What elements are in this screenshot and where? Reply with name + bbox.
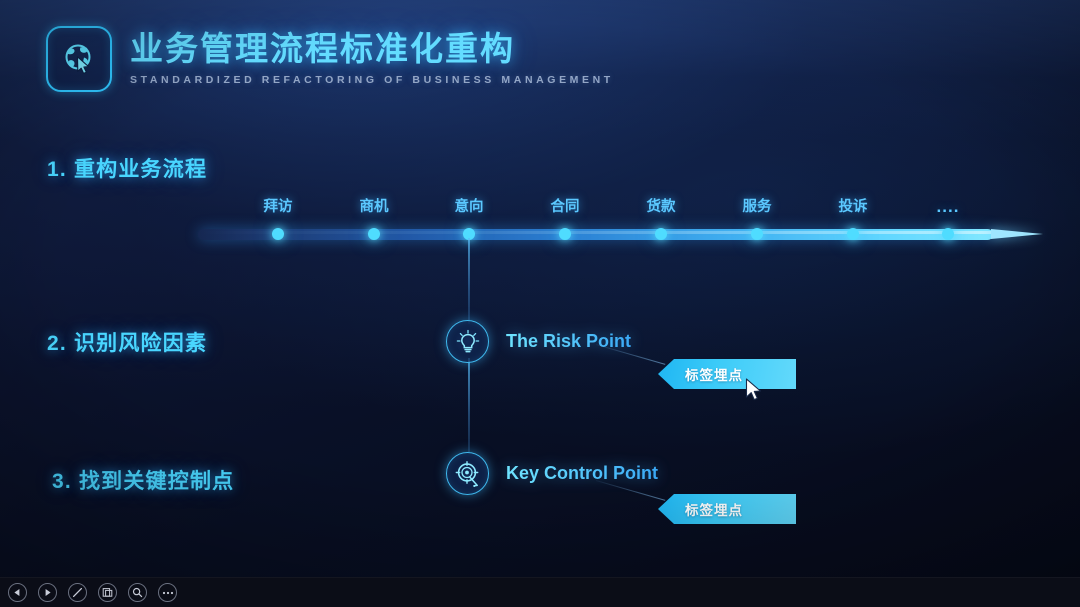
- timeline-node-label: 投诉: [839, 195, 868, 216]
- notes-button[interactable]: [98, 583, 117, 602]
- page-title: 业务管理流程标准化重构: [130, 32, 614, 65]
- zoom-button[interactable]: [128, 583, 147, 602]
- timeline-node-label: ....: [937, 197, 960, 217]
- previous-slide-button[interactable]: [8, 583, 27, 602]
- step-heading-1: 1. 重构业务流程: [47, 153, 207, 183]
- pen-tool-button[interactable]: [68, 583, 87, 602]
- risk-point-row[interactable]: The Risk Point: [446, 320, 631, 363]
- timeline-node-dot[interactable]: [559, 228, 571, 240]
- lightbulb-icon: [446, 320, 489, 363]
- timeline-node-dot[interactable]: [751, 228, 763, 240]
- timeline-node-label: 货款: [647, 195, 676, 216]
- triangle-right-icon: [43, 588, 52, 597]
- pen-icon: [72, 587, 83, 598]
- timeline-arrow-tip: [991, 229, 1043, 239]
- timeline-node-dot[interactable]: [368, 228, 380, 240]
- globe-cursor-icon: [46, 26, 112, 92]
- process-timeline: 拜访商机意向合同货款服务投诉....: [198, 225, 1043, 245]
- timeline-node-label: 商机: [360, 195, 389, 216]
- slide-header: 业务管理流程标准化重构 STANDARDIZED REFACTORING OF …: [46, 26, 614, 92]
- presentation-toolbar: [0, 577, 1080, 607]
- slide-canvas: 业务管理流程标准化重构 STANDARDIZED REFACTORING OF …: [0, 0, 1080, 607]
- key-control-point-label: Key Control Point: [506, 463, 658, 484]
- timeline-node-label: 意向: [455, 195, 484, 216]
- more-options-button[interactable]: [158, 583, 177, 602]
- target-magnifier-icon: [446, 452, 489, 495]
- connector-line-to-risk-point: [468, 238, 470, 324]
- ellipsis-icon: [162, 590, 174, 596]
- timeline-node-label: 合同: [551, 195, 580, 216]
- tag-banner-risk[interactable]: 标签埋点: [658, 359, 796, 389]
- timeline-node-dot[interactable]: [847, 228, 859, 240]
- timeline-node-label: 服务: [743, 195, 772, 216]
- timeline-node-label: 拜访: [264, 195, 293, 216]
- title-block: 业务管理流程标准化重构 STANDARDIZED REFACTORING OF …: [130, 32, 614, 86]
- notes-icon: [102, 587, 113, 598]
- page-subtitle: STANDARDIZED REFACTORING OF BUSINESS MAN…: [130, 74, 614, 86]
- timeline-node-dot[interactable]: [942, 228, 954, 240]
- timeline-node-dot[interactable]: [272, 228, 284, 240]
- timeline-node-dot[interactable]: [655, 228, 667, 240]
- step-heading-3: 3. 找到关键控制点: [52, 465, 234, 495]
- timeline-bar: [198, 229, 993, 240]
- tag-banner-key-control[interactable]: 标签埋点: [658, 494, 796, 524]
- next-slide-button[interactable]: [38, 583, 57, 602]
- step-heading-2: 2. 识别风险因素: [47, 327, 207, 357]
- magnifier-icon: [132, 587, 143, 598]
- connector-line-to-key-control-point: [468, 358, 470, 452]
- triangle-left-icon: [13, 588, 22, 597]
